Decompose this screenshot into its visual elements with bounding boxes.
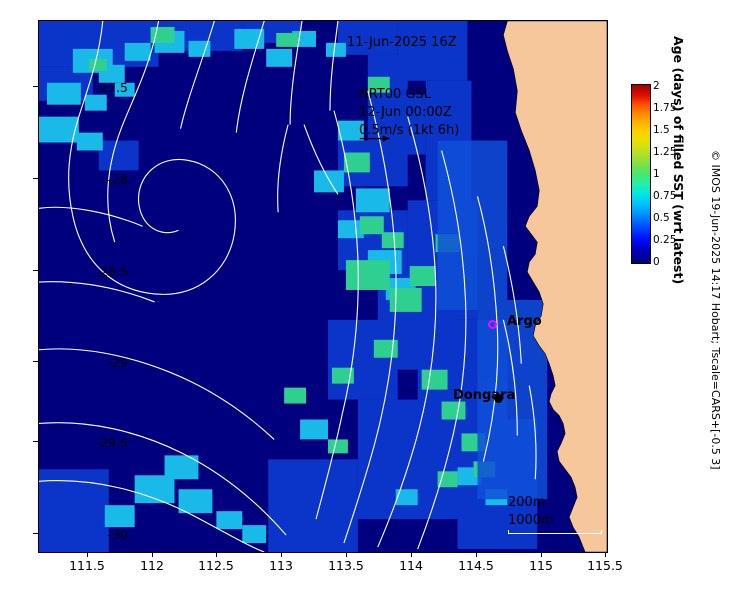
colorbar-tick-label: 0 (653, 256, 660, 268)
dongara-label: Dongara (453, 388, 491, 403)
x-tick-mark (541, 552, 542, 557)
colorbar (631, 84, 651, 264)
y-tick-label: -28 (82, 172, 128, 187)
colorbar-tick-label: 1 (653, 168, 660, 180)
y-tick-label: -27.5 (82, 80, 128, 95)
y-tick-mark (33, 361, 38, 362)
colorbar-title: Age (days) of filled SST (wrt latest) (671, 36, 686, 306)
x-tick-label: 111.5 (57, 558, 117, 573)
figure-root: 11-Jun-2025 16Z NRT00 GSL 12-Jun 00:00Z … (0, 0, 740, 592)
x-tick-mark (605, 552, 606, 557)
x-tick-label: 112 (122, 558, 182, 573)
argo-marker-icon (488, 320, 497, 329)
scalebar-tick-left (508, 530, 509, 534)
x-tick-label: 113 (251, 558, 311, 573)
colorbar-tick-label: 2 (653, 80, 660, 92)
x-tick-mark (476, 552, 477, 557)
x-tick-label: 114.5 (446, 558, 506, 573)
scalebar-upper-label: 200m (508, 495, 545, 510)
y-tick-mark (33, 178, 38, 179)
colorbar-tick-label: 1.5 (653, 124, 670, 136)
x-tick-label: 114 (381, 558, 441, 573)
argo-label: Argo (507, 314, 542, 329)
x-tick-mark (411, 552, 412, 557)
y-tick-mark (33, 270, 38, 271)
x-tick-mark (281, 552, 282, 557)
scalebar-lower-label: 1000m (508, 513, 554, 528)
y-tick-mark (33, 86, 38, 87)
x-tick-label: 112.5 (186, 558, 246, 573)
x-tick-label: 115.5 (575, 558, 635, 573)
x-tick-mark (87, 552, 88, 557)
x-tick-label: 115 (511, 558, 571, 573)
x-tick-mark (346, 552, 347, 557)
y-tick-label: -28.5 (82, 264, 128, 279)
scalebar-tick-right (601, 530, 602, 534)
y-tick-mark (33, 441, 38, 442)
x-tick-mark (216, 552, 217, 557)
y-tick-mark (33, 533, 38, 534)
colorbar-tick-label: 0.5 (653, 212, 670, 224)
y-tick-label: -30 (82, 527, 128, 542)
x-tick-mark (152, 552, 153, 557)
scalebar-line (508, 533, 602, 534)
y-tick-label: -29.5 (82, 435, 128, 450)
x-tick-label: 113.5 (316, 558, 376, 573)
map-plot[interactable]: 11-Jun-2025 16Z NRT00 GSL 12-Jun 00:00Z … (38, 20, 608, 553)
velocity-arrow-icon (39, 21, 607, 552)
y-tick-label: -29 (82, 355, 128, 370)
figure-credit: © IMOS 19-Jun-2025 14:17 Hobart; Tscale=… (709, 150, 722, 570)
